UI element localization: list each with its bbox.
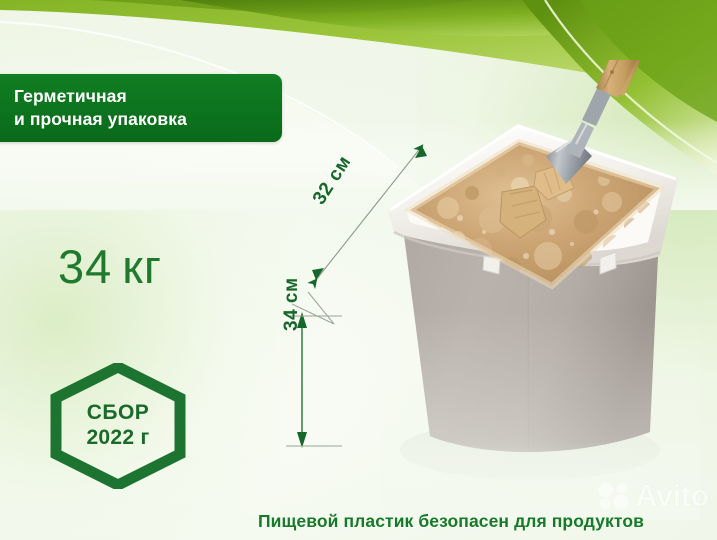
product-image-canvas: Герметичная и прочная упаковка xyxy=(0,0,717,540)
weight-value: 34 xyxy=(58,240,112,293)
banner-line-2: и прочная упаковка xyxy=(14,108,266,131)
food-safe-caption: Пищевой пластик безопасен для продуктов xyxy=(258,511,644,532)
dimension-annotations: 32 см 34 см xyxy=(270,120,480,470)
weight-label: 34кг xyxy=(58,243,162,290)
weight-unit: кг xyxy=(122,240,162,293)
harvest-year-badge: СБОР 2022 г xyxy=(48,363,188,489)
packaging-banner: Герметичная и прочная упаковка xyxy=(0,74,282,142)
dimension-height-label: 34 см xyxy=(281,277,303,331)
banner-line-1: Герметичная xyxy=(14,85,266,108)
